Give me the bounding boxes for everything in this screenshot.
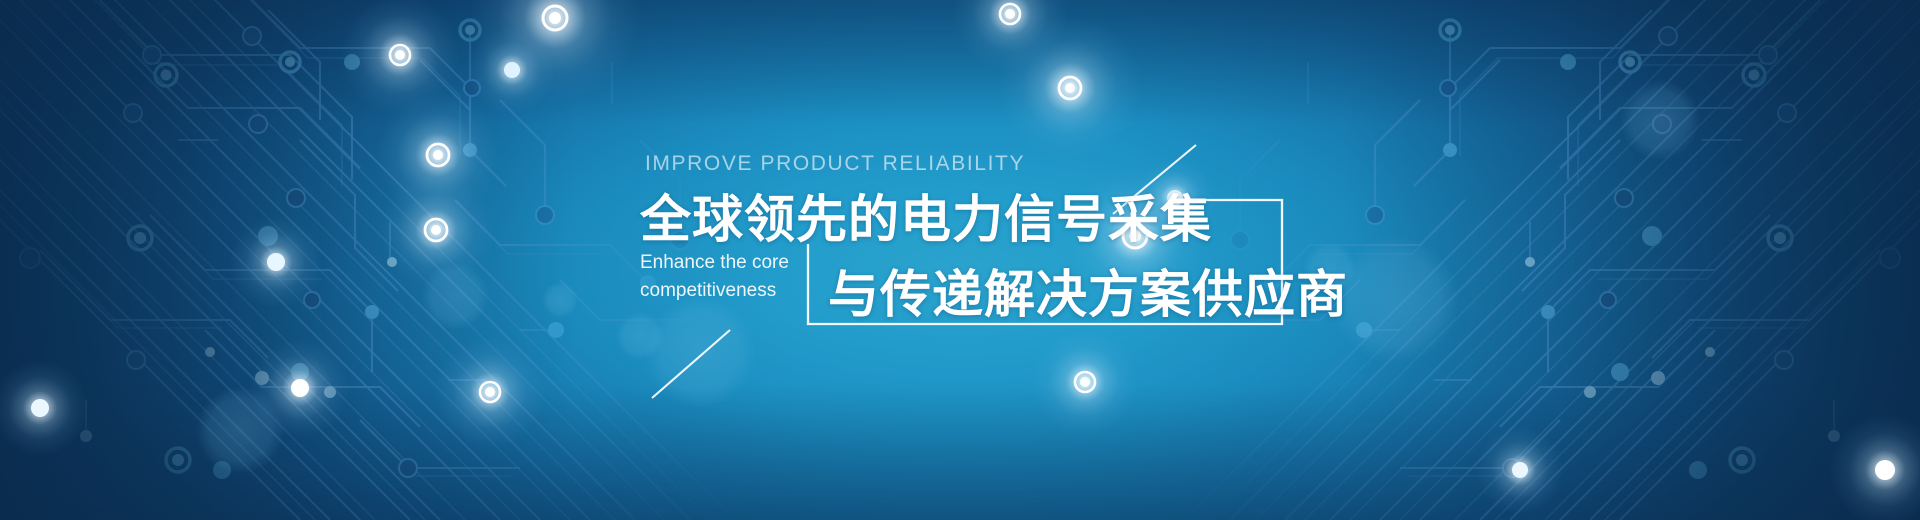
banner-headline-line-1: 全球领先的电力信号采集 xyxy=(640,178,1212,252)
banner-text-block: IMPROVE PRODUCT RELIABILITY 全球领先的电力信号采集 … xyxy=(0,0,1920,520)
hero-banner: IMPROVE PRODUCT RELIABILITY 全球领先的电力信号采集 … xyxy=(0,0,1920,520)
banner-tagline-line-1: Enhance the core xyxy=(640,249,820,277)
banner-headline-line-2: 与传递解决方案供应商 xyxy=(828,253,1348,327)
banner-tagline-line-2: competitiveness xyxy=(640,277,820,305)
banner-tagline: Enhance the core competitiveness xyxy=(640,249,820,305)
banner-eyebrow-text: IMPROVE PRODUCT RELIABILITY xyxy=(645,152,1025,176)
